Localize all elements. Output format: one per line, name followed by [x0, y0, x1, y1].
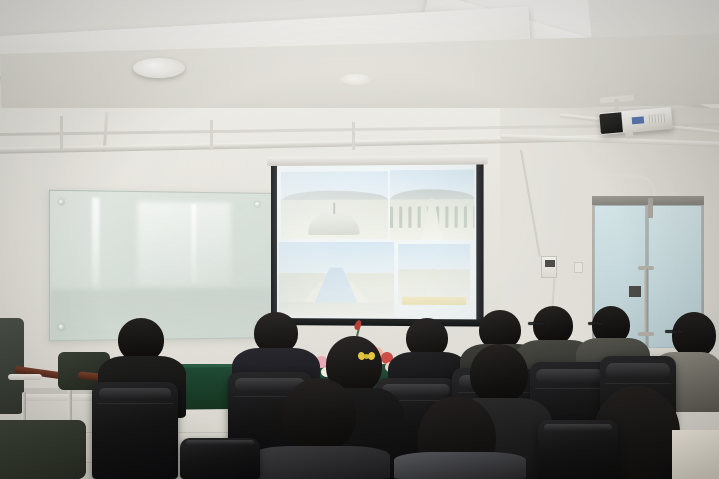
projection-screen[interactable]	[271, 164, 484, 322]
chair-arm-pad	[8, 374, 42, 380]
attendee-shoulder	[672, 430, 719, 479]
door-handle-icon[interactable]	[644, 268, 648, 336]
attendee-head	[282, 378, 356, 452]
slide-caption-bar	[402, 296, 466, 304]
slide-photo-top-right	[390, 169, 475, 240]
glasses-icon	[528, 322, 544, 325]
attendee-head	[470, 344, 528, 404]
projector-badge	[632, 116, 645, 124]
chair[interactable]	[180, 438, 260, 479]
door-handle-bracket	[638, 332, 654, 336]
empty-chair[interactable]	[0, 420, 86, 479]
glasses-icon	[588, 322, 603, 325]
slide-caption-text	[402, 296, 466, 304]
slide-photo-bottom-left	[279, 242, 394, 317]
conference-room-photo	[0, 0, 719, 479]
dome-light-left-icon	[133, 58, 185, 78]
chair[interactable]	[92, 382, 178, 479]
wall-switch-box[interactable]	[541, 256, 557, 278]
glasses-icon	[665, 330, 683, 333]
pipe-hanger	[210, 120, 213, 150]
screen-border-right	[476, 164, 483, 322]
slide-photo-bottom-right	[398, 244, 471, 306]
wall-plate	[574, 262, 583, 273]
projector-vent	[649, 113, 666, 123]
screen-surface	[277, 165, 476, 320]
screen-border-left	[271, 166, 277, 321]
whiteboard-content	[50, 191, 274, 340]
pipe-hanger	[352, 122, 355, 150]
projected-slide	[277, 165, 476, 320]
projector-lens-icon	[599, 112, 623, 134]
dome-light-center-icon	[341, 74, 371, 85]
chair[interactable]	[538, 420, 618, 479]
slide-photo-top-left	[281, 171, 388, 239]
glass-whiteboard[interactable]	[49, 190, 275, 341]
door-lock-icon[interactable]	[629, 286, 641, 297]
pipe-hanger	[60, 116, 63, 150]
attendee-torso	[394, 452, 526, 479]
hair-bow-icon	[358, 352, 375, 360]
door-hinge	[648, 198, 653, 218]
attendee-torso	[250, 446, 390, 479]
